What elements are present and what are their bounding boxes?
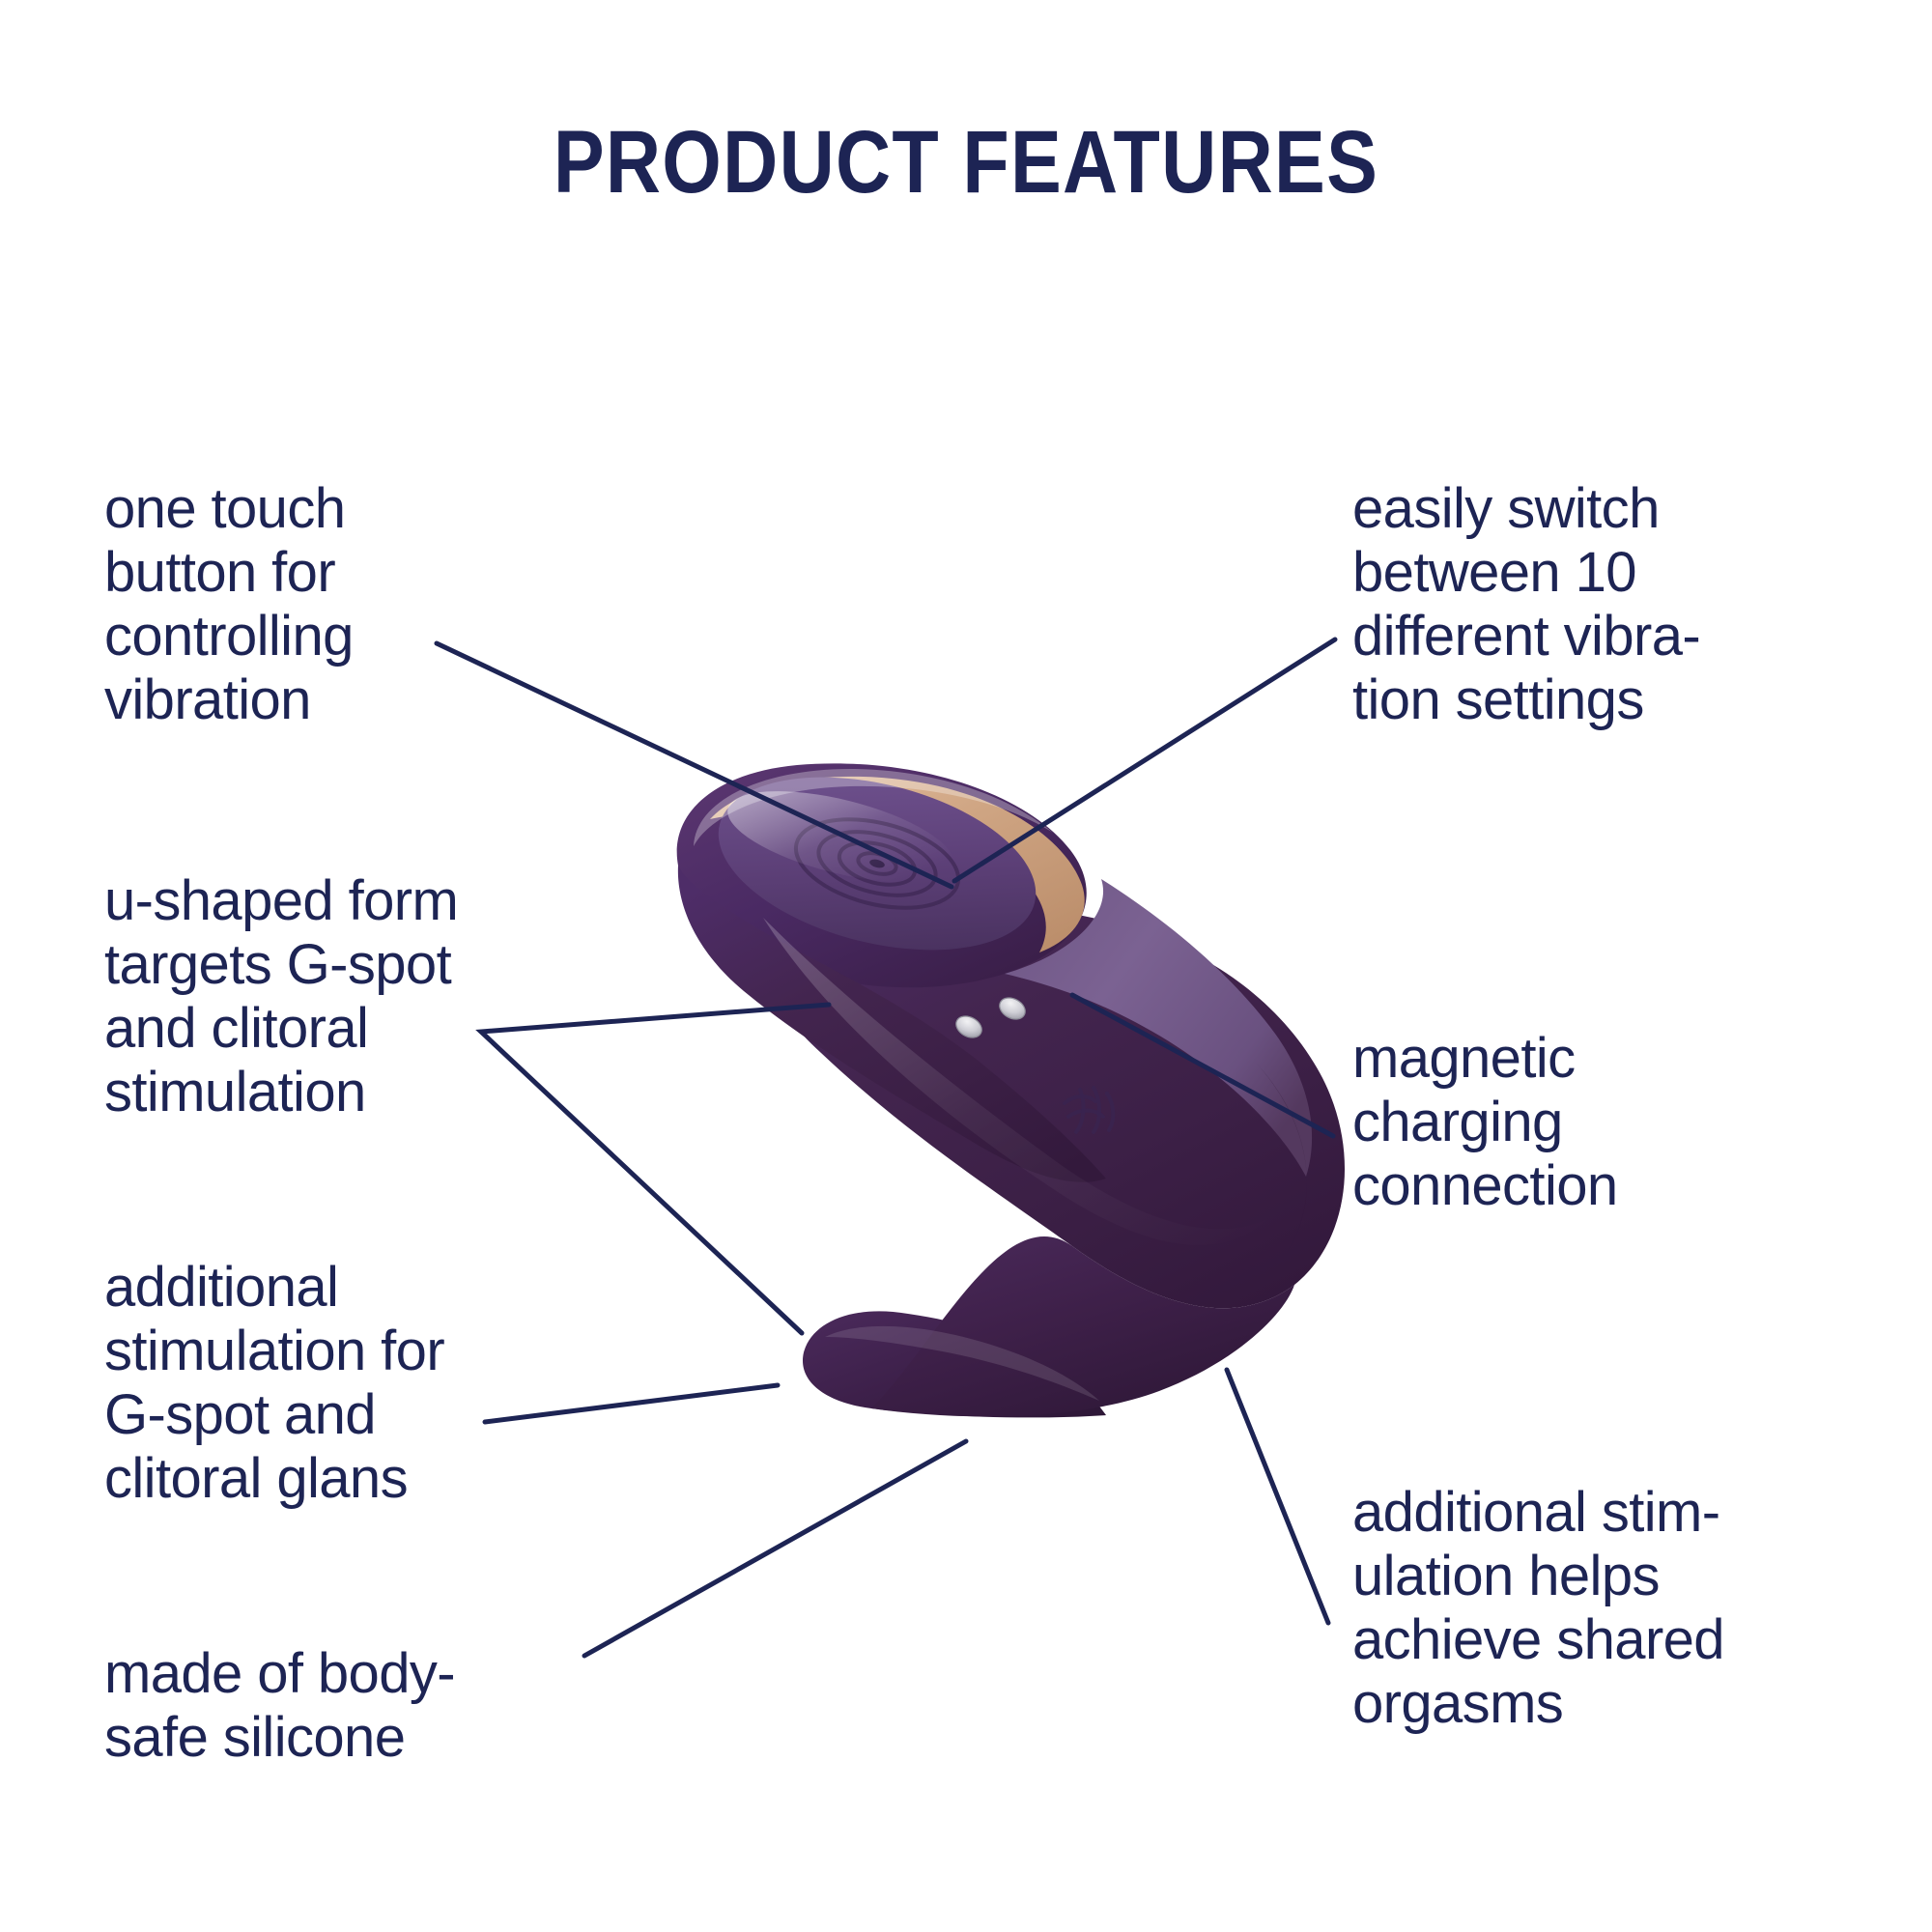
page-title: PRODUCT FEATURES [135, 118, 1797, 207]
callout-shared-orgasms: additional stim- ulation helps achieve s… [1352, 1481, 1806, 1736]
callout-body-safe-silicone: made of body- safe silicone [104, 1642, 558, 1770]
callout-u-shaped-form: u-shaped form targets G-spot and clitora… [104, 869, 558, 1124]
callout-additional-stimulation-gspot: additional stimulation for G-spot and cl… [104, 1256, 558, 1511]
callout-one-touch-button: one touch button for controlling vibrati… [104, 477, 520, 732]
product-svg [618, 744, 1391, 1459]
callout-magnetic-charging: magnetic charging connection [1352, 1027, 1758, 1218]
product-illustration [618, 744, 1391, 1459]
callout-vibration-settings: easily switch between 10 different vibra… [1352, 477, 1758, 732]
product-body [677, 748, 1345, 1418]
leader-line-body-safe [584, 1441, 966, 1656]
product-features-infographic: PRODUCT FEATURES [0, 0, 1932, 1932]
